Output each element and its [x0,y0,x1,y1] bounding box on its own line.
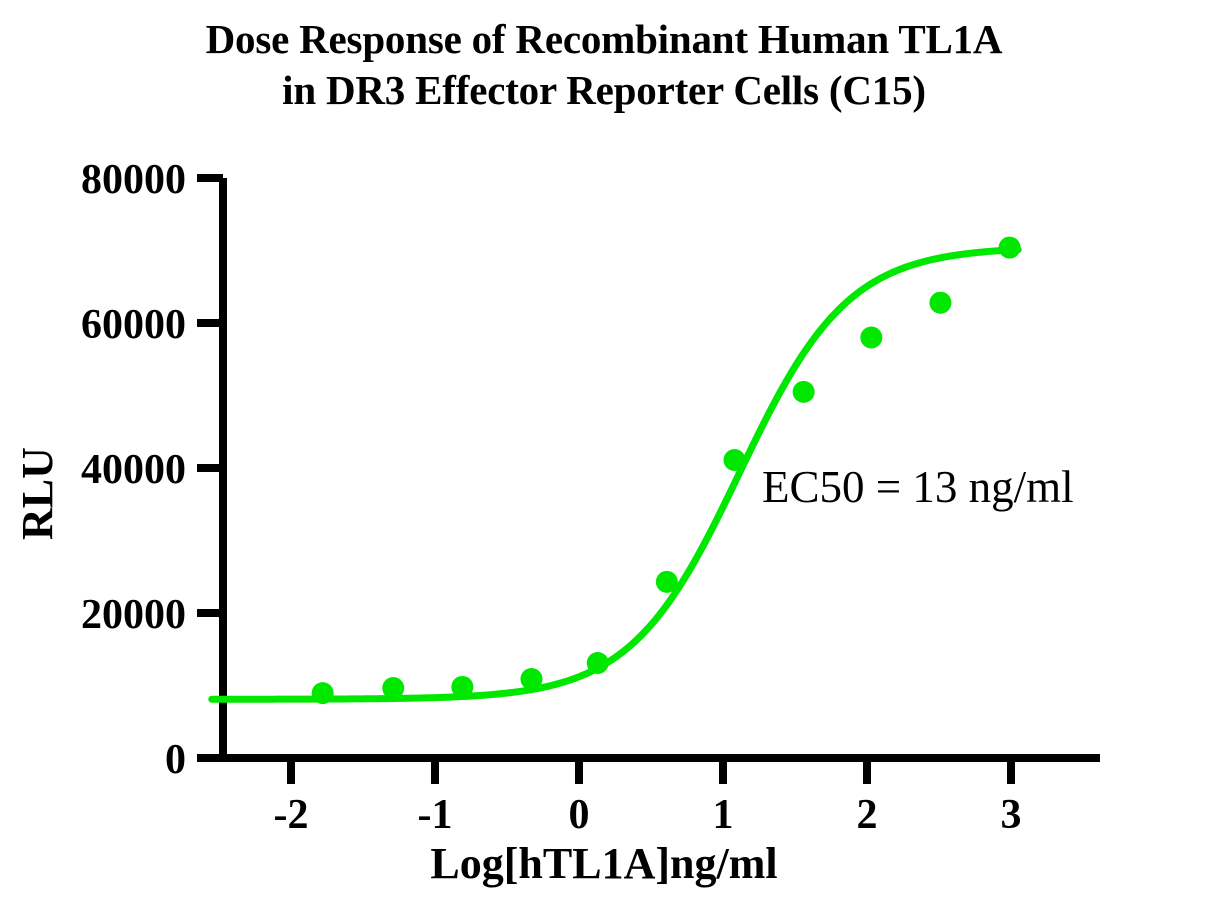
x-tick-label: 2 [857,792,878,838]
x-axis-title: Log[hTL1A]ng/ml [0,838,1208,889]
x-tick-label: 0 [569,792,590,838]
data-point [860,327,882,349]
x-tick-label: 1 [713,792,734,838]
plot-area: 020000400006000080000 -2-10123 [0,0,1208,915]
y-tick-label: 40000 [81,447,186,493]
data-point [656,571,678,593]
y-tick-label: 60000 [81,302,186,348]
chart-figure: Dose Response of Recombinant Human TL1A … [0,0,1208,915]
x-tick-label: 3 [1001,792,1022,838]
data-point [793,381,815,403]
y-tick-label: 0 [165,737,186,783]
data-point [999,237,1021,259]
ec50-annotation: EC50 = 13 ng/ml [762,461,1074,513]
y-axis-ticks: 020000400006000080000 [81,157,223,783]
data-point [929,292,951,314]
data-point [520,668,542,690]
x-axis-ticks: -2-10123 [274,758,1022,838]
data-point [724,449,746,471]
y-tick-label: 80000 [81,157,186,203]
data-point [382,677,404,699]
data-point [587,652,609,674]
data-point [312,682,334,704]
x-tick-label: -2 [274,792,309,838]
y-tick-label: 20000 [81,592,186,638]
y-axis-title: RLU [12,447,63,540]
x-tick-label: -1 [418,792,453,838]
data-point [451,676,473,698]
